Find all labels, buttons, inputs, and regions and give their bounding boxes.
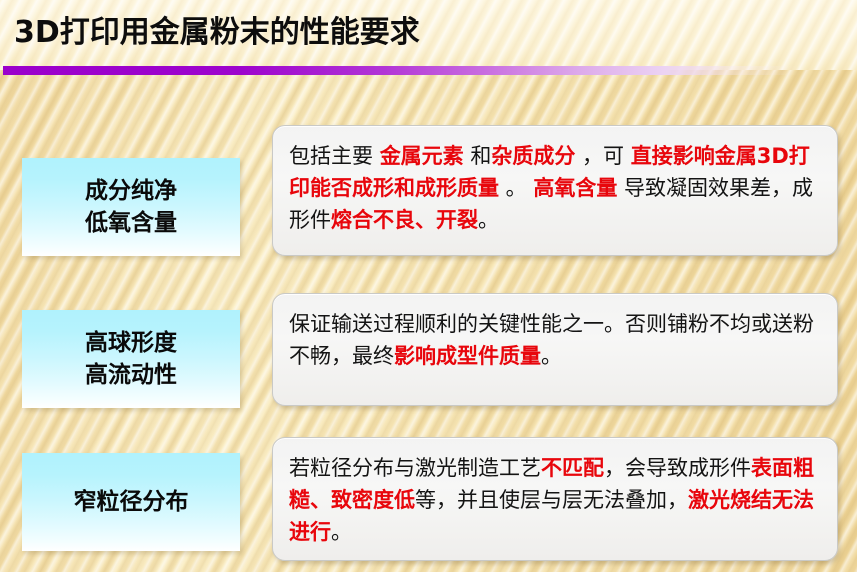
- plain-text-run: 。: [331, 520, 352, 544]
- highlighted-text-run: 熔合不良、开裂: [331, 208, 478, 232]
- label-box-narrow-size-distribution[interactable]: 窄粒径分布: [22, 453, 240, 551]
- highlighted-text-run: 杂质成分: [491, 144, 575, 168]
- highlighted-text-run: 影响成型件质量: [394, 344, 541, 368]
- content-text: 包括主要 金属元素 和杂质成分 ，可 直接影响金属3D打印能否成形和成形质量 。…: [289, 140, 821, 236]
- plain-text-run: 。: [541, 344, 562, 368]
- plain-text-run: 包括主要: [289, 144, 380, 168]
- content-text: 若粒径分布与激光制造工艺不匹配，会导致成形件表面粗糙、致密度低等，并且使层与层无…: [289, 452, 821, 548]
- content-box-narrow-size-distribution[interactable]: 若粒径分布与激光制造工艺不匹配，会导致成形件表面粗糙、致密度低等，并且使层与层无…: [272, 437, 838, 561]
- title-divider-rule: [3, 66, 851, 75]
- label-box-composition-purity[interactable]: 成分纯净 低氧含量: [22, 158, 240, 256]
- plain-text-run: 等，并且使层与层无法叠加，: [415, 488, 688, 512]
- label-text: 窄粒径分布: [74, 486, 189, 518]
- content-box-composition-purity[interactable]: 包括主要 金属元素 和杂质成分 ，可 直接影响金属3D打印能否成形和成形质量 。…: [272, 125, 838, 256]
- label-text: 高球形度 高流动性: [85, 327, 177, 391]
- slide-canvas: 3D打印用金属粉末的性能要求 成分纯净 低氧含量 高球形度 高流动性 窄粒径分布…: [0, 0, 857, 572]
- plain-text-run: 。: [499, 176, 533, 200]
- highlighted-text-run: 高氧含量: [533, 176, 617, 200]
- plain-text-run: 。: [478, 208, 499, 232]
- highlighted-text-run: 不匹配: [541, 456, 604, 480]
- plain-text-run: 和: [464, 144, 492, 168]
- page-title: 3D打印用金属粉末的性能要求: [14, 13, 420, 53]
- plain-text-run: ，会导致成形件: [604, 456, 751, 480]
- plain-text-run: ，可: [575, 144, 630, 168]
- content-text: 保证输送过程顺利的关键性能之一。否则铺粉不均或送粉不畅，最终影响成型件质量。: [289, 308, 821, 372]
- label-box-sphericity-flowability[interactable]: 高球形度 高流动性: [22, 310, 240, 408]
- content-box-sphericity-flowability[interactable]: 保证输送过程顺利的关键性能之一。否则铺粉不均或送粉不畅，最终影响成型件质量。: [272, 293, 838, 406]
- plain-text-run: 若粒径分布与激光制造工艺: [289, 456, 541, 480]
- label-text: 成分纯净 低氧含量: [85, 175, 177, 239]
- highlighted-text-run: 金属元素: [380, 144, 464, 168]
